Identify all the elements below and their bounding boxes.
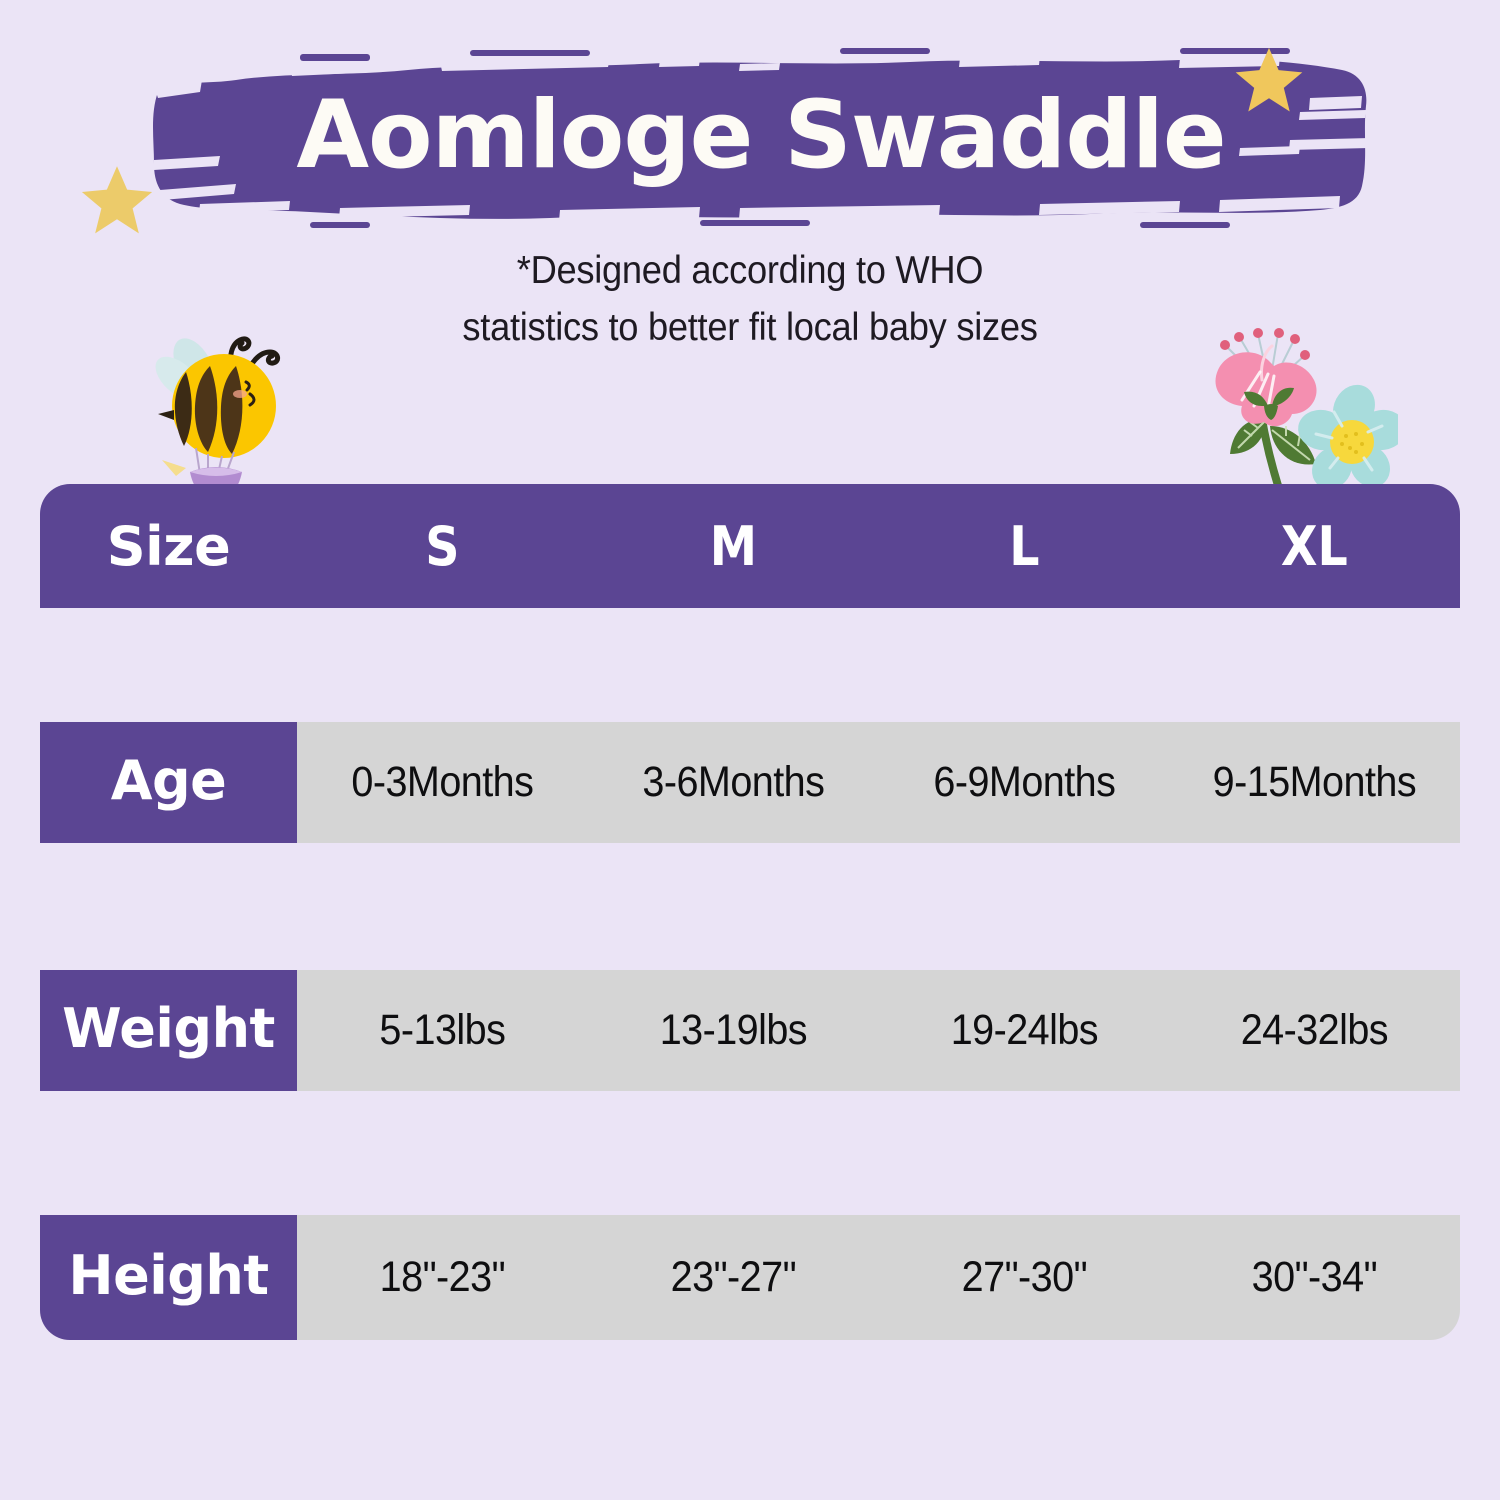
table-header-row: Size S M L XL [40,484,1460,608]
row-label-height: Height [40,1215,297,1340]
cell-weight-m: 13-19lbs [599,1006,866,1055]
cell-height-l: 27"-30" [890,1253,1157,1302]
column-header-xl: XL [1187,515,1443,578]
row-values-height: 18"-23" 23"-27" 27"-30" 30"-34" [297,1215,1460,1340]
subtitle: *Designed according to WHO statistics to… [250,243,1250,356]
cell-age-xl: 9-15Months [1181,758,1448,807]
cell-age-l: 6-9Months [890,758,1157,807]
cell-age-m: 3-6Months [599,758,866,807]
cell-height-m: 23"-27" [599,1253,866,1302]
subtitle-line-1: *Designed according to WHO [285,243,1215,300]
star-icon [78,160,156,238]
size-chart-page: Aomloge Swaddle *Designed according to W… [0,0,1500,1500]
cell-weight-s: 5-13lbs [309,1006,576,1055]
flowers-icon [1182,322,1398,502]
star-icon [1232,42,1306,116]
row-values-weight: 5-13lbs 13-19lbs 19-24lbs 24-32lbs [297,970,1460,1091]
row-label-weight: Weight [40,970,297,1091]
size-chart-table: Size S M L XL Age 0-3Months 3-6Months 6-… [40,484,1460,1344]
bee-icon [128,322,318,502]
title-banner: Aomloge Swaddle [140,40,1372,230]
column-header-s: S [314,515,570,578]
subtitle-line-2: statistics to better fit local baby size… [285,300,1215,357]
row-values-age: 0-3Months 3-6Months 6-9Months 9-15Months [297,722,1460,843]
row-label-age: Age [40,722,297,843]
table-row: Age 0-3Months 3-6Months 6-9Months 9-15Mo… [40,722,1460,843]
page-title: Aomloge Swaddle [140,40,1372,230]
cell-weight-l: 19-24lbs [890,1006,1157,1055]
column-header-l: L [896,515,1152,578]
column-header-size: Size [40,515,297,578]
table-row: Weight 5-13lbs 13-19lbs 19-24lbs 24-32lb… [40,970,1460,1091]
cell-height-s: 18"-23" [309,1253,576,1302]
cell-age-s: 0-3Months [309,758,576,807]
cell-weight-xl: 24-32lbs [1181,1006,1448,1055]
table-row: Height 18"-23" 23"-27" 27"-30" 30"-34" [40,1215,1460,1340]
cell-height-xl: 30"-34" [1181,1253,1448,1302]
column-header-m: M [605,515,861,578]
